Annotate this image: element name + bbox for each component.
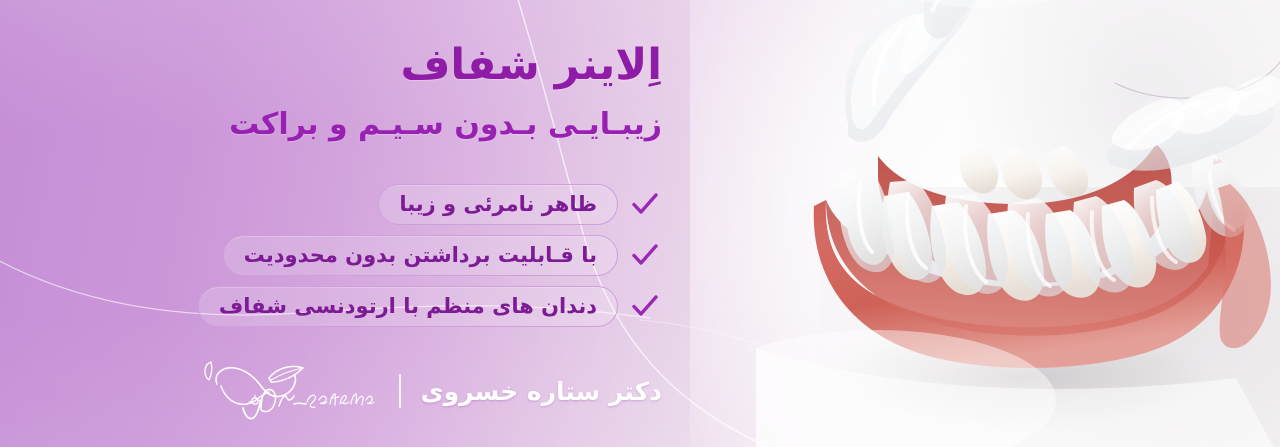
check-icon: [630, 240, 660, 270]
tooth-leaf-logo-icon: [199, 360, 379, 422]
feature-list: ظاهر نامرئی و زیبا با قـابلیت برداشتن بد…: [12, 182, 662, 335]
feature-pill-label: دندان های منظم با ارتودنسی شفاف: [198, 286, 618, 327]
feature-pill-label: ظاهر نامرئی و زیبا: [378, 184, 618, 225]
doctor-name: دکتر ستاره خسروی: [421, 377, 662, 406]
aligner-promo-banner: اِلاینر شفاف زیبـایـی بـدون سـیـم و براک…: [0, 0, 1280, 447]
footer-brand: دکتر ستاره خسروی: [199, 359, 662, 423]
divider: [399, 374, 401, 408]
page-subtitle: زیبـایـی بـدون سـیـم و براکت: [42, 108, 662, 141]
clear-aligner-dental-model-image: [756, 0, 1280, 447]
list-item: دندان های منظم با ارتودنسی شفاف: [12, 284, 662, 328]
check-icon: [630, 291, 660, 321]
list-item: ظاهر نامرئی و زیبا: [12, 182, 662, 226]
list-item: با قـابلیت برداشتن بدون محدودیت: [12, 233, 662, 277]
page-title: اِلاینر شفاف: [42, 43, 662, 88]
feature-pill-label: با قـابلیت برداشتن بدون محدودیت: [223, 235, 618, 276]
check-icon: [630, 189, 660, 219]
text-column: اِلاینر شفاف زیبـایـی بـدون سـیـم و براک…: [0, 0, 700, 447]
